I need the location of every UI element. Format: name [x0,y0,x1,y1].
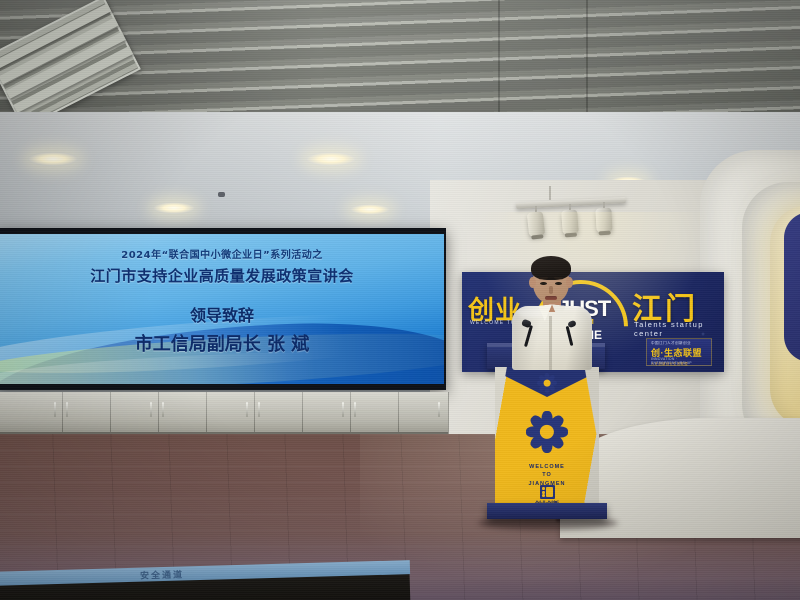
ceiling-downlight [306,152,356,166]
ceiling-downlight [28,152,78,166]
speaker-ear-right [566,277,573,288]
track-spotlight-icon [561,209,579,234]
banner-tagline: Talents startup center [634,320,724,338]
speaker-shirt-placket [549,316,552,370]
led-presentation-screen: 2024年“联合国中小微企业日”系列活动之 江门市支持企业高质量发展政策宣讲会 … [0,234,444,384]
cabinet-door[interactable] [254,392,303,434]
ceiling-seam [586,0,588,120]
podium-right-edge [495,367,599,507]
cabinet-door[interactable] [110,392,159,434]
podium-base [487,503,607,519]
ceiling-downlight [153,202,195,214]
conference-hall-scene: 创业 WELCOME TO JIANGMEN JUST DREAM COME 江… [0,0,800,600]
podium-front-panel: WELCOME TO JIANGMEN 创业创新 [495,367,599,507]
cabinet-door[interactable] [350,392,399,434]
ceiling-seam [498,0,500,120]
cabinet-door[interactable] [158,392,207,434]
ceiling-downlight [350,204,390,215]
speaker-mouth [545,296,557,300]
track-light-stem [549,186,551,200]
speaker-ear-left [529,277,536,288]
track-spotlight-icon [527,211,545,237]
cabinet-row [0,392,448,434]
cabinet-door[interactable] [206,392,255,434]
ceiling-sensor-icon [218,192,225,197]
screen-text-block: 2024年“联合国中小微企业日”系列活动之 江门市支持企业高质量发展政策宣讲会 … [0,234,444,356]
cabinet-door[interactable] [62,392,111,434]
track-spotlight-icon [595,208,612,233]
speaker-eye-right [555,282,562,285]
speaker-nose [549,286,553,294]
cabinet-door[interactable] [0,392,63,434]
screen-line-2: 江门市支持企业高质量发展政策宣讲会 [0,265,444,286]
speaker-hair [531,256,571,280]
speaker-eye-left [540,282,547,285]
cabinet-door[interactable] [302,392,351,434]
badge-line-4: 人才创新创业生态联盟 [651,361,688,366]
stage-edge-text: 安全通道 [140,567,184,581]
screen-line-3: 领导致辞 [0,302,444,326]
banner-badge: 中国江门人才创新创业 创·生态联盟 INNOVATION · ENTREPREN… [646,338,712,366]
cabinet-door[interactable] [398,392,449,434]
screen-line-1: 2024年“联合国中小微企业日”系列活动之 [0,246,444,261]
alcove-blue-panel [784,212,800,362]
screen-line-4: 市工信局副局长 张 斌 [0,330,444,356]
